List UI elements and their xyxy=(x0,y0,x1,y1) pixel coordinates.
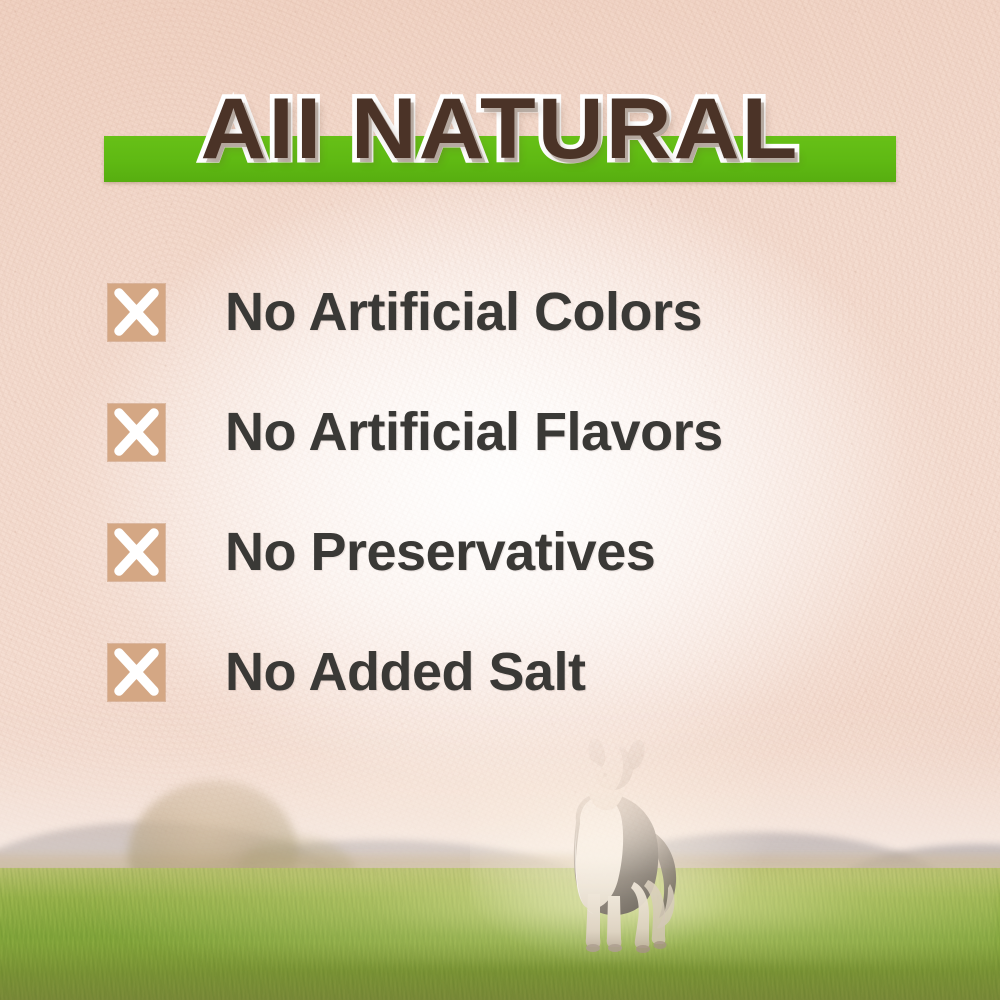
feature-label: No Artificial Flavors xyxy=(225,403,723,461)
x-mark-icon xyxy=(108,404,165,461)
feature-row: No Preservatives xyxy=(108,492,908,612)
x-mark-icon xyxy=(108,284,165,341)
feature-label: No Added Salt xyxy=(225,643,586,701)
x-mark-icon xyxy=(108,524,165,581)
feature-row: No Artificial Flavors xyxy=(108,372,908,492)
banner-title-text: AII NATURAL xyxy=(0,78,1000,180)
x-mark-icon xyxy=(108,644,165,701)
feature-list: No Artificial Colors No Artificial Flavo… xyxy=(108,252,908,732)
all-natural-feature-panel: AII NATURAL No Artificial Colors No Arti… xyxy=(0,0,1000,1000)
feature-row: No Artificial Colors xyxy=(108,252,908,372)
border-collie-dog xyxy=(530,738,700,956)
feature-label: No Artificial Colors xyxy=(225,283,702,341)
feature-label: No Preservatives xyxy=(225,523,655,581)
feature-row: No Added Salt xyxy=(108,612,908,732)
foreground-shadow xyxy=(0,942,1000,1000)
landscape-photo xyxy=(0,700,1000,1000)
headline-banner: AII NATURAL xyxy=(0,78,1000,194)
